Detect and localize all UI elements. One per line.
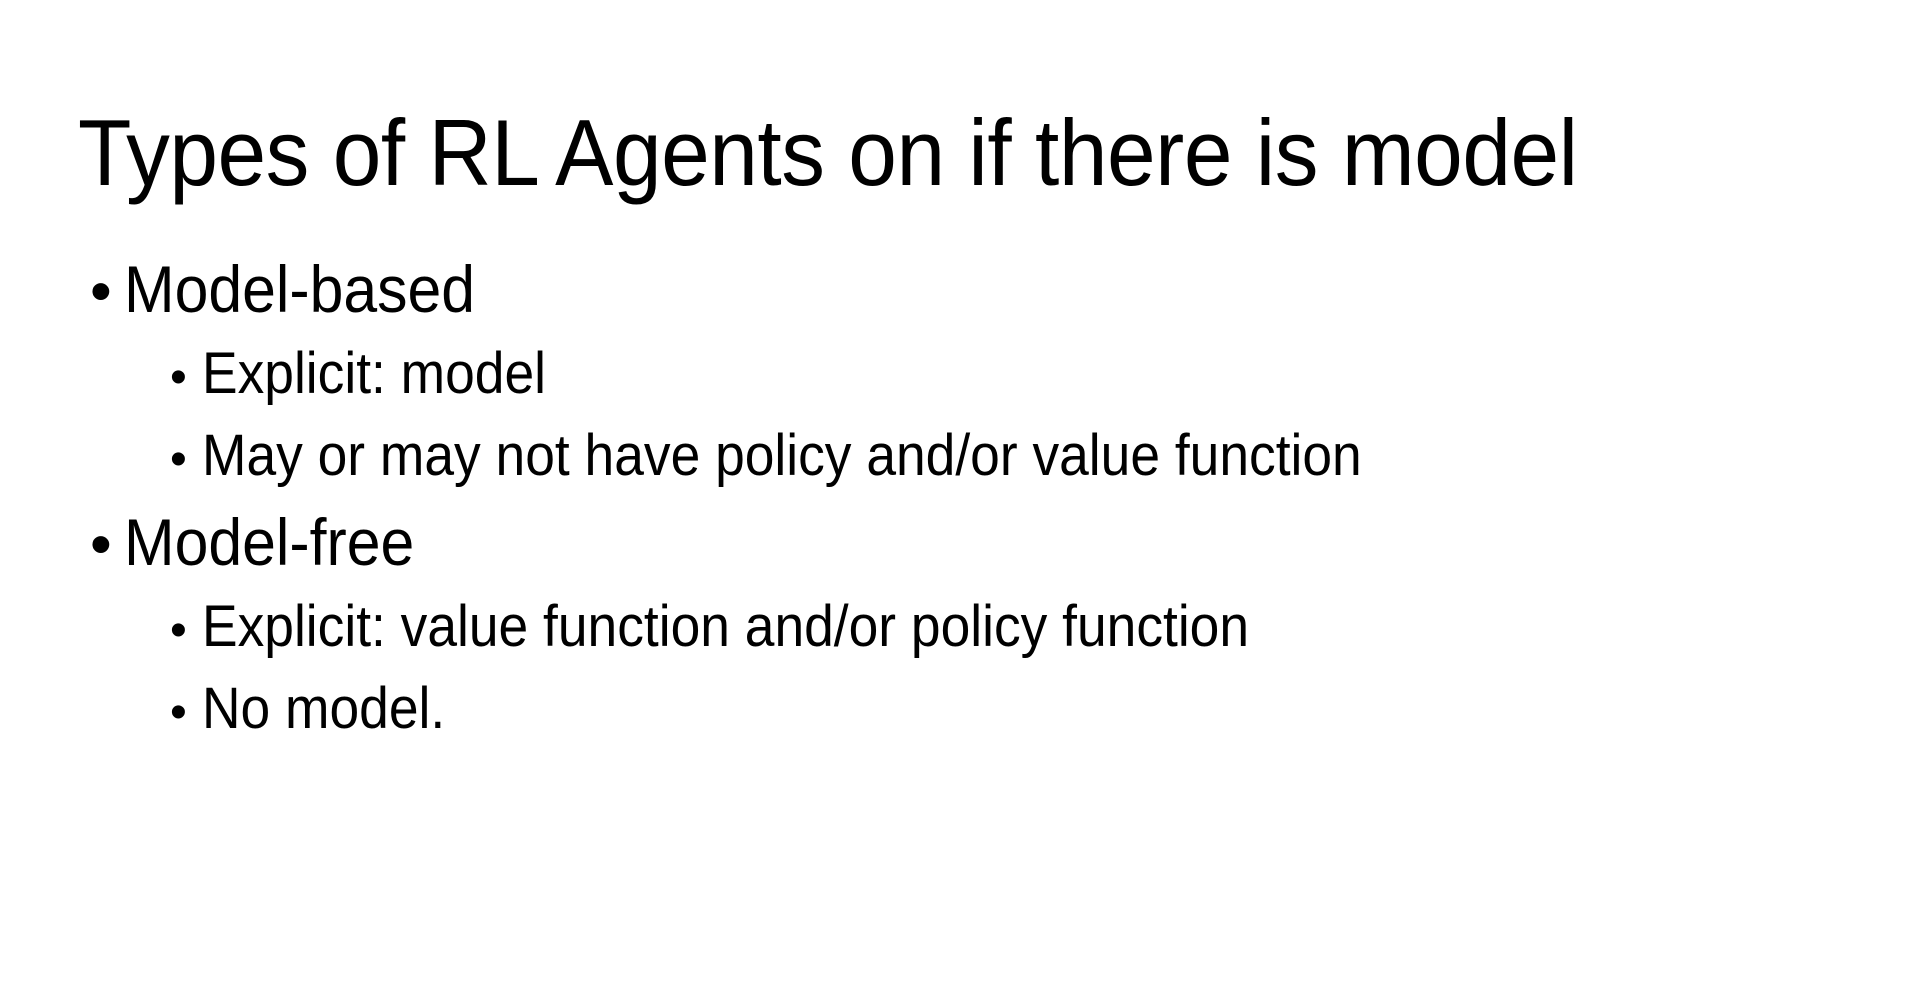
- list-item: • Explicit: model: [78, 335, 1868, 417]
- bullet-text: Explicit: value function and/or policy f…: [202, 588, 1249, 666]
- list-item: • May or may not have policy and/or valu…: [78, 417, 1868, 499]
- bullet-row: • No model.: [78, 670, 1868, 752]
- title-block: Types of RL Agents on if there is model: [78, 70, 1838, 200]
- bullet-dot-icon: •: [170, 339, 202, 417]
- bullet-dot-icon: •: [170, 674, 202, 752]
- bullet-dot-icon: •: [90, 249, 124, 335]
- bullet-row: • May or may not have policy and/or valu…: [78, 417, 1868, 499]
- bullet-row: • Model-free: [78, 499, 1868, 588]
- page-title: Types of RL Agents on if there is model: [78, 106, 1578, 200]
- bullet-list-level-2: • Explicit: model • May or may not have …: [78, 335, 1868, 499]
- slide-canvas: Types of RL Agents on if there is model …: [0, 0, 1920, 1004]
- bullet-dot-icon: •: [170, 592, 202, 670]
- bullet-text: Model-free: [124, 499, 414, 585]
- bullet-text: Model-based: [124, 246, 475, 332]
- bullet-row: • Explicit: value function and/or policy…: [78, 588, 1868, 670]
- body-content: • Model-based • Explicit: model • May or…: [78, 246, 1868, 752]
- bullet-row: • Model-based: [78, 246, 1868, 335]
- list-item: • Model-free • Explicit: value function …: [78, 499, 1868, 752]
- bullet-list-level-2: • Explicit: value function and/or policy…: [78, 588, 1868, 752]
- bullet-text: Explicit: model: [202, 335, 546, 413]
- bullet-dot-icon: •: [170, 421, 202, 499]
- list-item: • Model-based • Explicit: model • May or…: [78, 246, 1868, 499]
- bullet-dot-icon: •: [90, 502, 124, 588]
- list-item: • Explicit: value function and/or policy…: [78, 588, 1868, 670]
- list-item: • No model.: [78, 670, 1868, 752]
- bullet-row: • Explicit: model: [78, 335, 1868, 417]
- bullet-text: May or may not have policy and/or value …: [202, 417, 1362, 495]
- bullet-text: No model.: [202, 670, 445, 748]
- bullet-list-level-1: • Model-based • Explicit: model • May or…: [78, 246, 1868, 752]
